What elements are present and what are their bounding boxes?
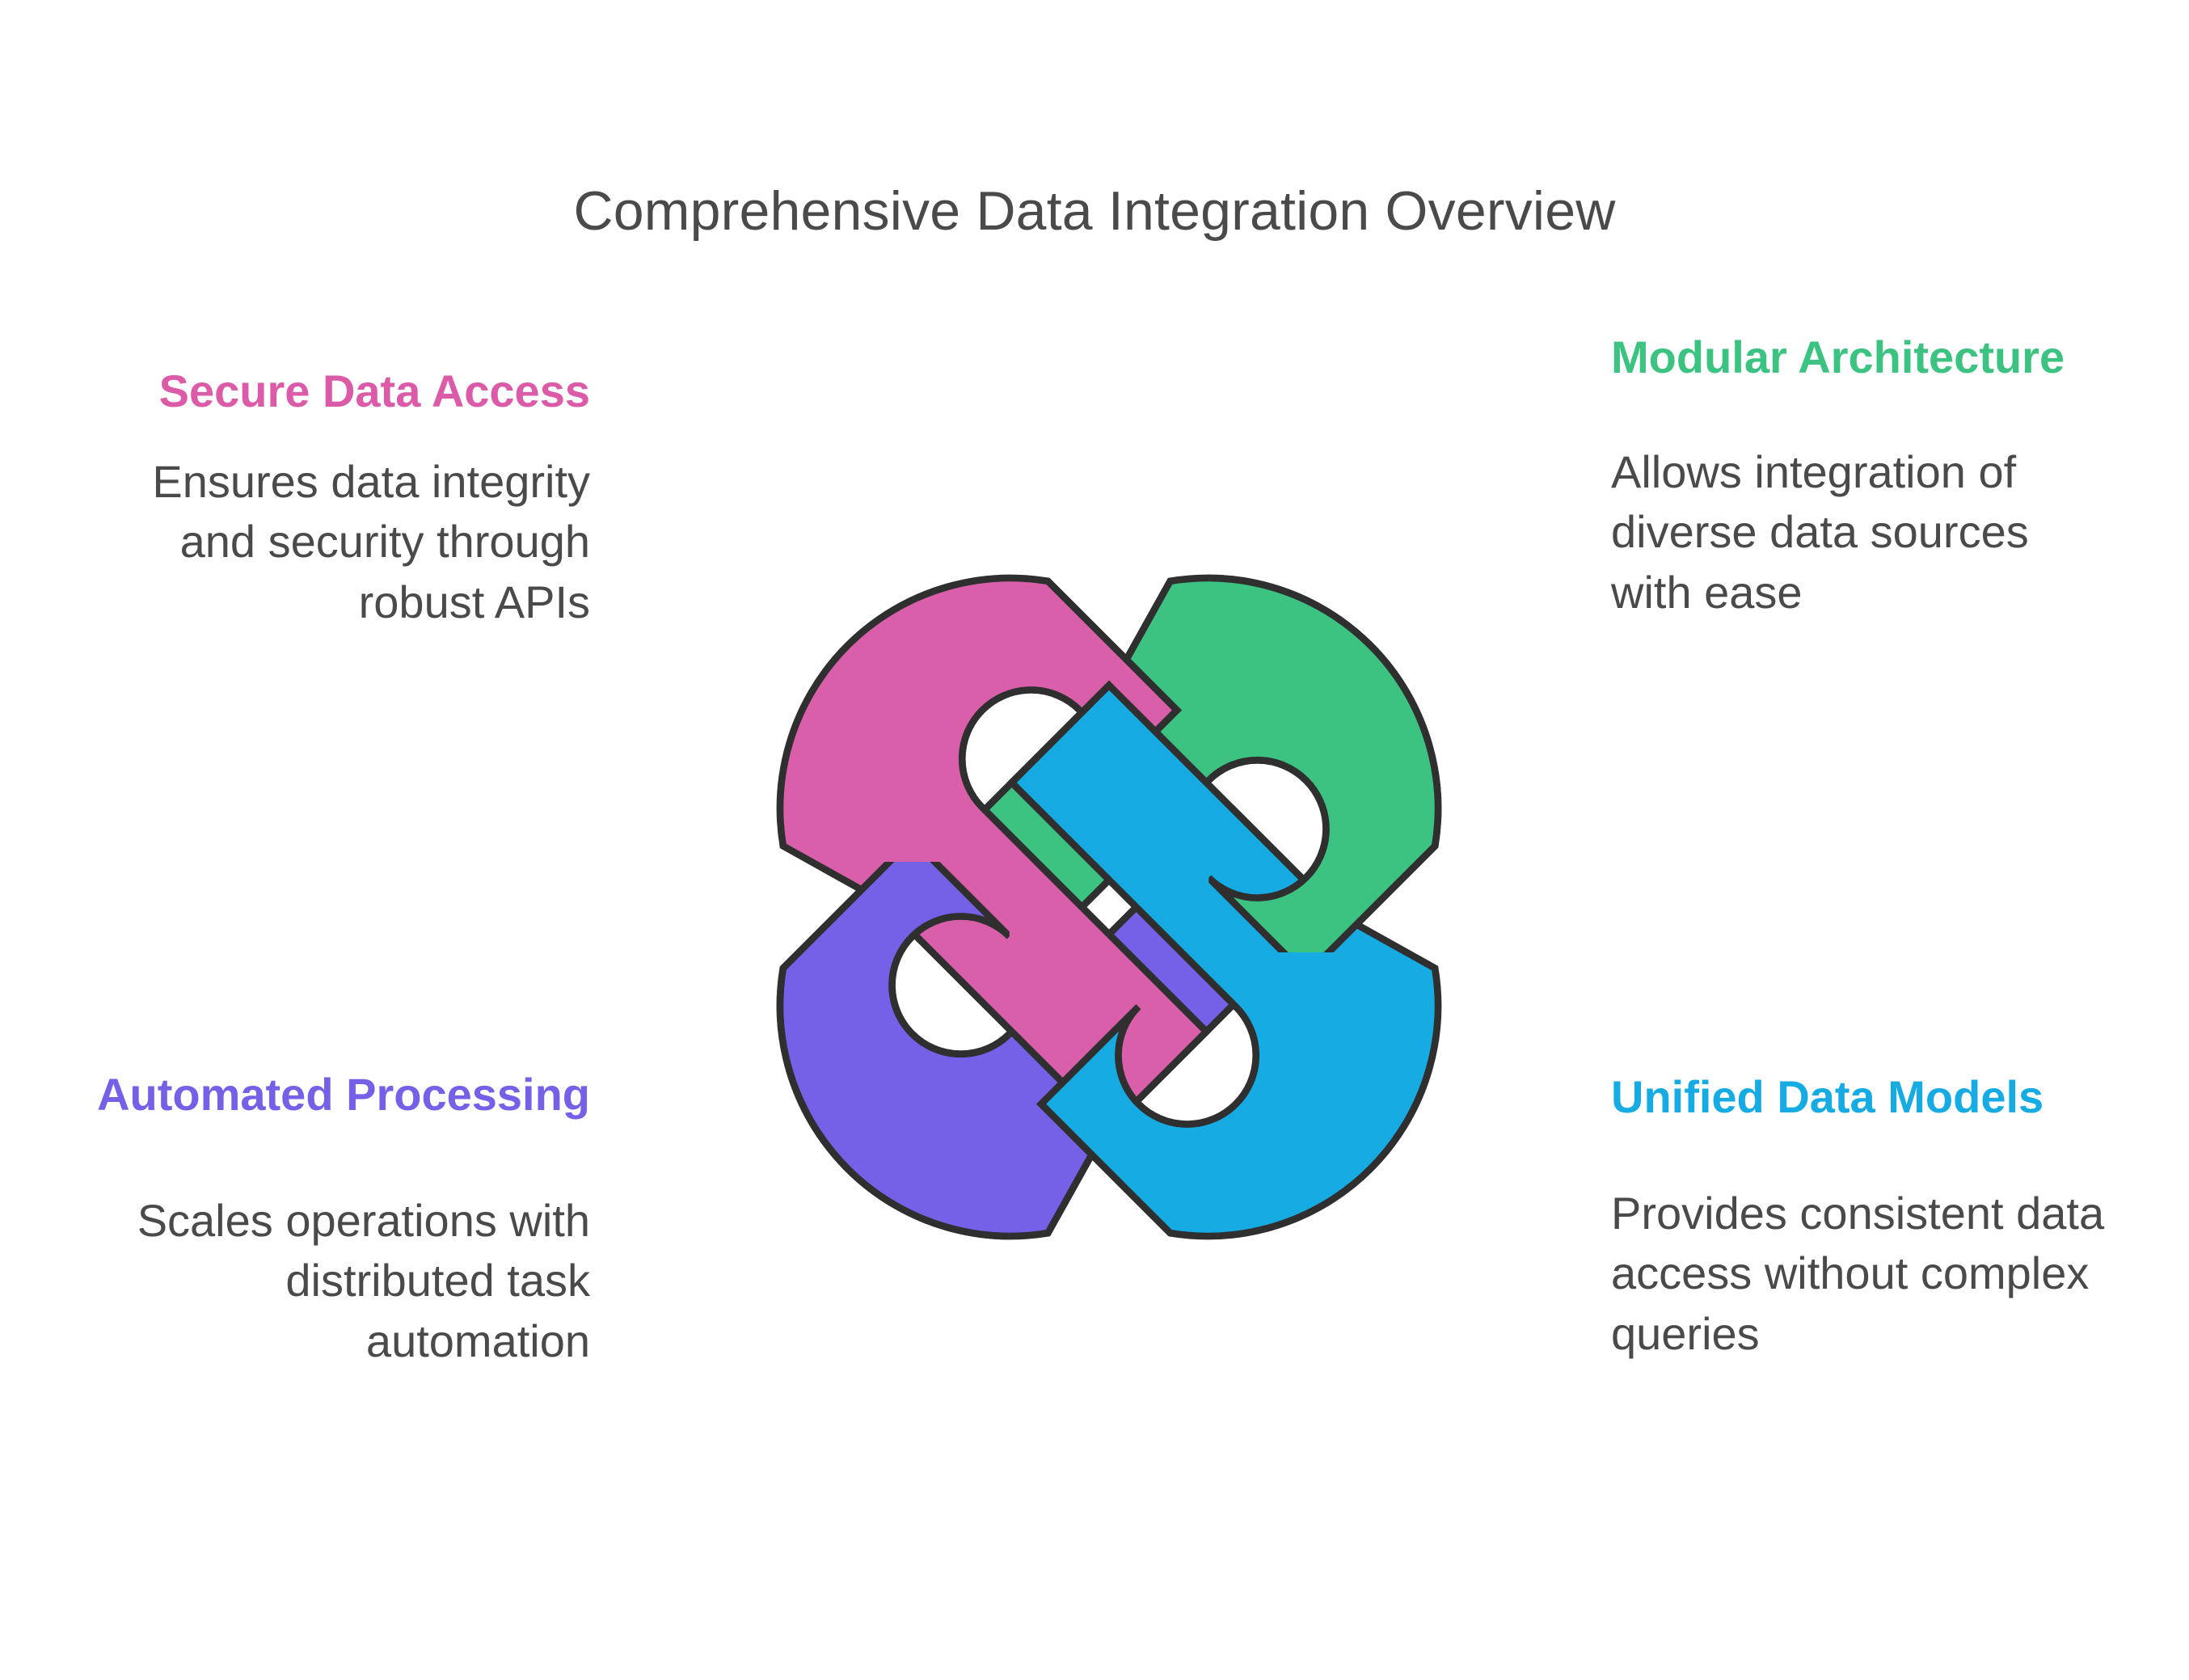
feature-body-secure-data-access: Ensures data integrity and security thro… (89, 452, 590, 632)
feature-body-automated-processing: Scales operations with distributed task … (89, 1191, 590, 1371)
interlocking-knot-diagram (656, 446, 1562, 1368)
feature-heading-automated-processing: Automated Processing (89, 1069, 590, 1121)
feature-block-secure-data-access: Secure Data Access Ensures data integrit… (89, 365, 590, 632)
feature-heading-unified-data-models: Unified Data Models (1611, 1071, 2112, 1124)
feature-block-modular-architecture: Modular Architecture Allows integration … (1611, 331, 2112, 623)
knot-pieces (780, 578, 1438, 1236)
feature-block-automated-processing: Automated Processing Scales operations w… (89, 1069, 590, 1371)
page-title: Comprehensive Data Integration Overview (0, 181, 2189, 242)
feature-heading-modular-architecture: Modular Architecture (1611, 331, 2112, 384)
knot-svg (656, 446, 1562, 1368)
infographic-page: Comprehensive Data Integration Overview … (0, 0, 2189, 1680)
feature-block-unified-data-models: Unified Data Models Provides consistent … (1611, 1071, 2112, 1364)
feature-body-unified-data-models: Provides consistent data access without … (1611, 1184, 2112, 1364)
feature-body-modular-architecture: Allows integration of diverse data sourc… (1611, 442, 2112, 623)
feature-heading-secure-data-access: Secure Data Access (89, 365, 590, 418)
